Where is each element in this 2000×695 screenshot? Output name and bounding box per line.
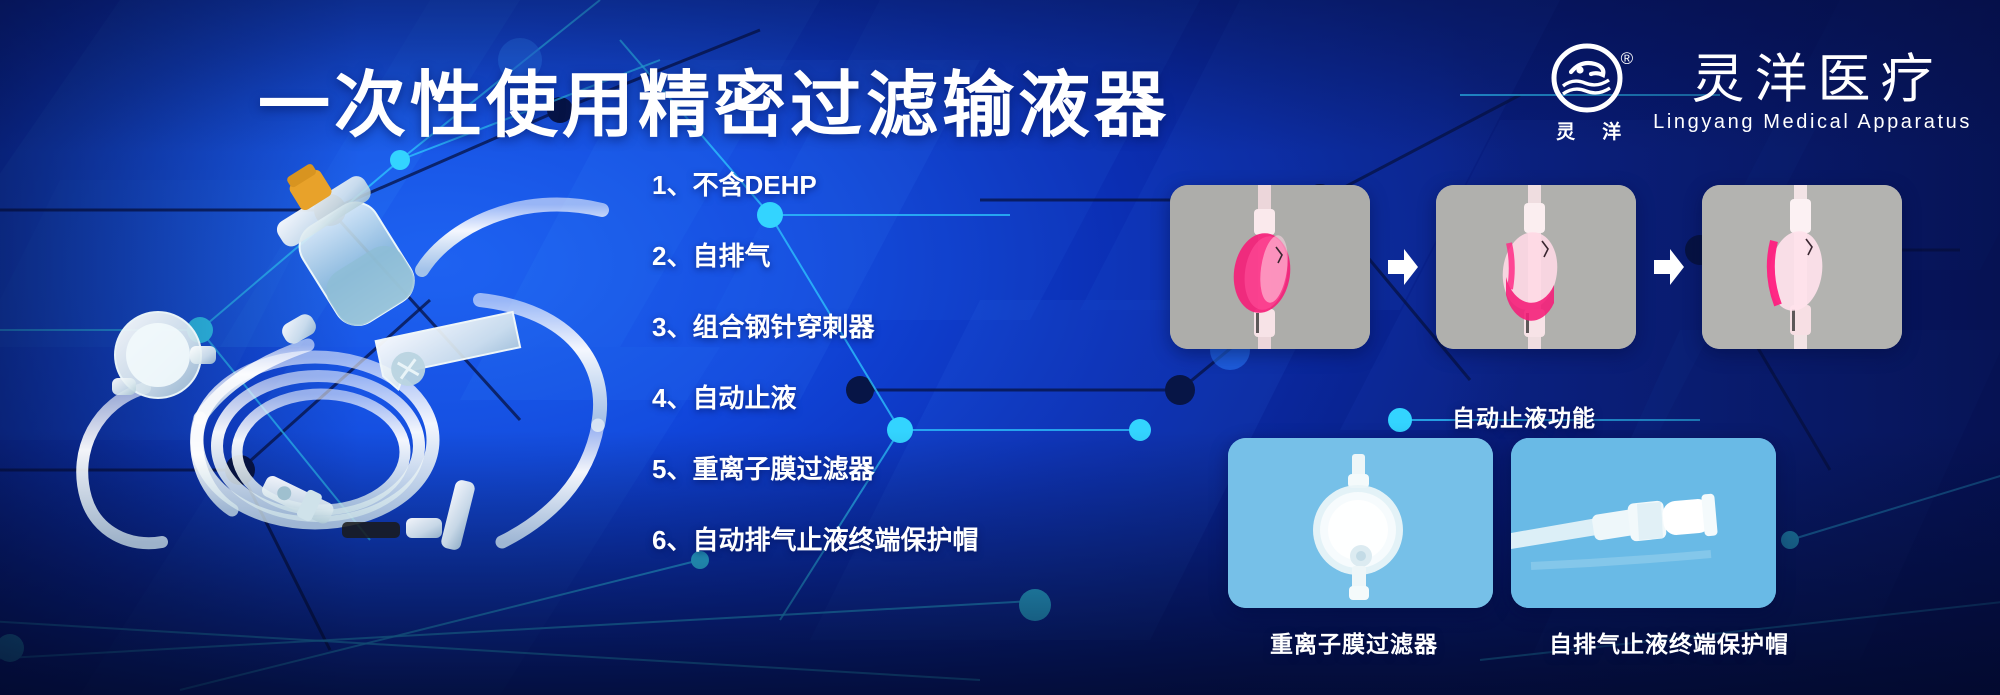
brand-seal: ® 灵 洋 bbox=[1547, 42, 1631, 144]
feature-item-1: 1、不含DEHP bbox=[652, 172, 972, 198]
seal-emblem-icon: ® bbox=[1547, 42, 1631, 114]
feature-item-2: 2、自排气 bbox=[652, 243, 972, 269]
brand-name-cn: 灵洋医疗 bbox=[1682, 52, 1944, 108]
stop-flow-photo-stage-2 bbox=[1436, 185, 1636, 349]
feature-item-6: 6、自动排气止液终端保护帽 bbox=[652, 527, 972, 553]
brand-name-en: Lingyang Medical Apparatus bbox=[1653, 111, 1972, 134]
auto-stop-sequence-photos bbox=[1170, 185, 1902, 349]
feature-list: 1、不含DEHP 2、自排气 3、组合钢针穿刺器 4、自动止液 5、重离子膜过滤… bbox=[652, 172, 972, 553]
seal-subtext: 灵 洋 bbox=[1556, 117, 1622, 144]
feature-item-4: 4、自动止液 bbox=[652, 385, 972, 411]
brand-name-block: 灵洋医疗 Lingyang Medical Apparatus bbox=[1653, 52, 1972, 135]
hero-product-photo bbox=[50, 150, 650, 550]
seal-char-left: 灵 bbox=[1556, 117, 1576, 144]
feature-item-3: 3、组合钢针穿刺器 bbox=[652, 314, 972, 340]
caption-auto-stop-function: 自动止液功能 bbox=[1452, 399, 1596, 433]
registered-trademark-icon: ® bbox=[1621, 50, 1634, 67]
filter-photo bbox=[1228, 438, 1493, 608]
arrow-right-icon-2 bbox=[1652, 247, 1686, 287]
feature-item-5: 5、重离子膜过滤器 bbox=[652, 456, 972, 482]
stop-flow-photo-stage-1 bbox=[1170, 185, 1370, 349]
seal-char-right: 洋 bbox=[1602, 117, 1622, 144]
terminal-cap-photo bbox=[1511, 438, 1776, 608]
caption-filter: 重离子膜过滤器 bbox=[1270, 625, 1438, 659]
page-title: 一次性使用精密过滤输液器 bbox=[258, 46, 1170, 151]
stop-flow-photo-stage-3 bbox=[1702, 185, 1902, 349]
brand-logo: ® 灵 洋 灵洋医疗 Lingyang Medical Apparatus bbox=[1547, 42, 1972, 144]
component-photos bbox=[1228, 438, 1776, 608]
arrow-right-icon-1 bbox=[1386, 247, 1420, 287]
product-banner: 一次性使用精密过滤输液器 ® 灵 洋 灵洋医疗 Lingyang Medical bbox=[0, 0, 2000, 695]
caption-terminal-cap: 自排气止液终端保护帽 bbox=[1549, 625, 1789, 659]
